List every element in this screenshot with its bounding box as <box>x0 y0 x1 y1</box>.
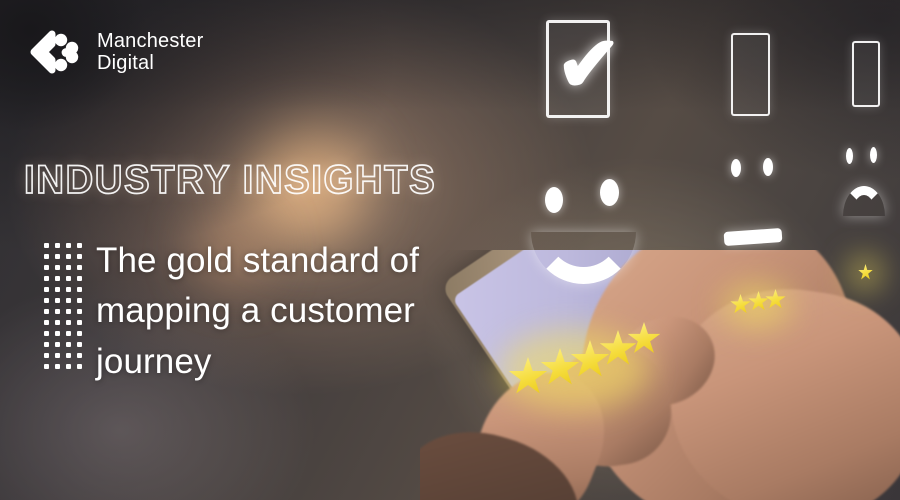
grid-dot <box>55 353 60 358</box>
grid-dot <box>55 265 60 270</box>
grid-dot <box>44 353 49 358</box>
grid-dot <box>77 254 82 259</box>
checkbox-empty-2 <box>852 41 880 107</box>
sad-face-right-eye <box>870 147 877 163</box>
brand-name-line2: Digital <box>97 52 204 74</box>
dot-grid-decoration <box>44 240 88 372</box>
grid-dot <box>66 254 71 259</box>
sad-face-mouth <box>843 186 885 216</box>
grid-dot <box>55 287 60 292</box>
five-star-glow <box>500 330 650 410</box>
grid-dot <box>77 342 82 347</box>
grid-dot <box>44 342 49 347</box>
grid-dot <box>77 287 82 292</box>
grid-dot <box>66 342 71 347</box>
neutral-face <box>715 150 815 260</box>
grid-dot <box>55 342 60 347</box>
brand-name-line1: Manchester <box>97 30 204 52</box>
happy-face <box>522 160 697 315</box>
checkbox-empty-1 <box>731 33 770 116</box>
page-title: The gold standard of mapping a customer … <box>96 236 526 387</box>
grid-dot <box>55 276 60 281</box>
grid-dot <box>55 309 60 314</box>
grid-dot <box>77 309 82 314</box>
grid-dot <box>77 320 82 325</box>
brand-logo[interactable]: Manchester Digital <box>22 28 204 76</box>
sad-face <box>838 140 900 240</box>
grid-dot <box>77 276 82 281</box>
grid-dot <box>77 353 82 358</box>
neutral-face-left-eye <box>731 159 741 177</box>
grid-dot <box>44 265 49 270</box>
kicker-industry-insights: INDUSTRY INSIGHTS <box>24 158 436 203</box>
industry-insights-banner: Manchester Digital INDUSTRY INSIGHTS The… <box>0 0 900 500</box>
grid-dot <box>77 331 82 336</box>
check-icon: ✔ <box>556 25 621 103</box>
grid-dot <box>55 331 60 336</box>
happy-face-left-eye <box>545 187 563 213</box>
grid-dot <box>44 364 49 369</box>
brand-name: Manchester Digital <box>97 30 204 75</box>
happy-face-mouth <box>531 232 636 284</box>
grid-dot <box>66 243 71 248</box>
grid-dot <box>66 320 71 325</box>
grid-dot <box>77 243 82 248</box>
neutral-face-right-eye <box>763 158 773 176</box>
sad-face-left-eye <box>846 148 853 164</box>
grid-dot <box>66 364 71 369</box>
grid-dot <box>66 353 71 358</box>
grid-dot <box>66 287 71 292</box>
grid-dot <box>77 298 82 303</box>
grid-dot <box>66 331 71 336</box>
neutral-face-mouth <box>724 228 783 246</box>
grid-dot <box>44 298 49 303</box>
grid-dot <box>55 243 60 248</box>
grid-dot <box>44 309 49 314</box>
manchester-digital-chevron-logo <box>22 28 84 76</box>
grid-dot <box>44 276 49 281</box>
grid-dot <box>55 254 60 259</box>
grid-dot <box>44 287 49 292</box>
happy-face-right-eye <box>600 179 619 206</box>
grid-dot <box>77 364 82 369</box>
grid-dot <box>66 298 71 303</box>
grid-dot <box>55 364 60 369</box>
grid-dot <box>66 276 71 281</box>
grid-dot <box>44 254 49 259</box>
checkbox-checked: ✔ <box>546 20 610 118</box>
grid-dot <box>55 320 60 325</box>
grid-dot <box>44 243 49 248</box>
grid-dot <box>77 265 82 270</box>
grid-dot <box>66 309 71 314</box>
grid-dot <box>55 298 60 303</box>
grid-dot <box>44 320 49 325</box>
grid-dot <box>66 265 71 270</box>
grid-dot <box>44 331 49 336</box>
